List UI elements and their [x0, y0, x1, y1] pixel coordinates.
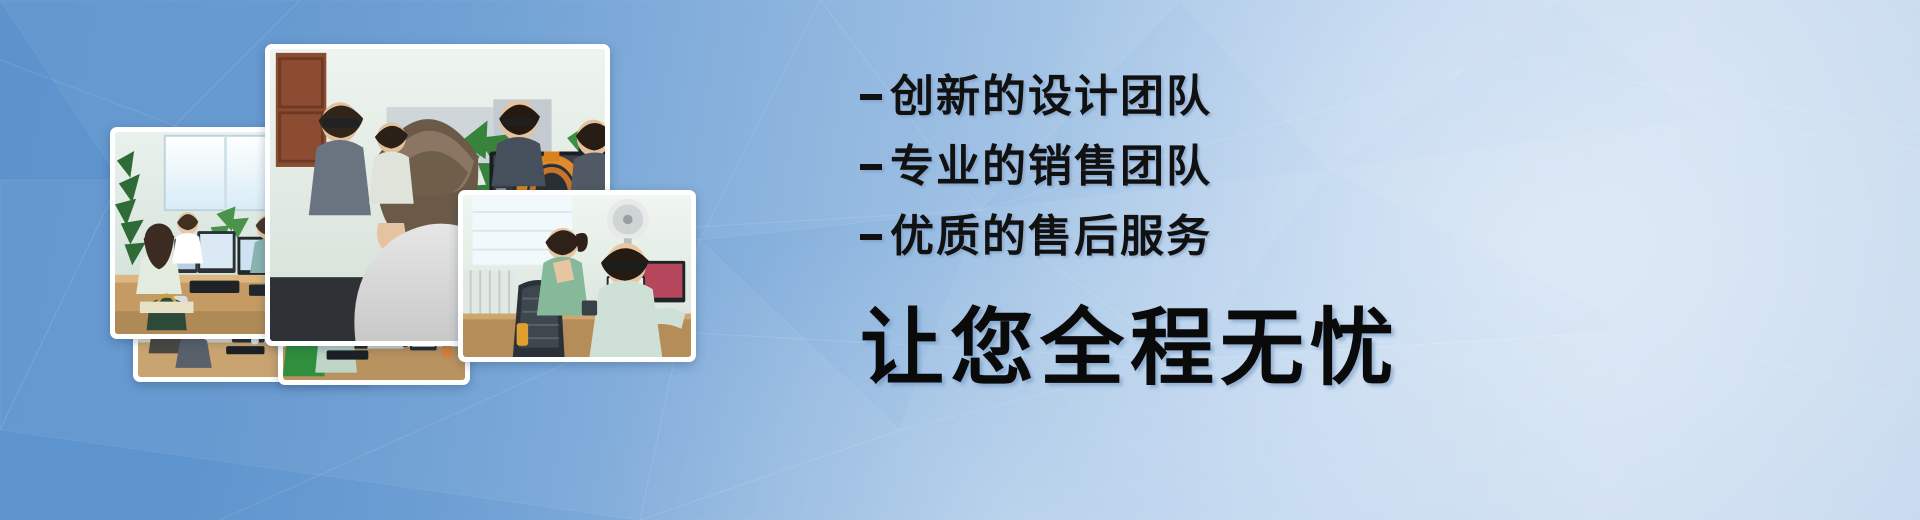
feature-bullet-item: 创新的设计团队 [860, 62, 1560, 132]
bullet-dash-icon [860, 94, 882, 100]
feature-bullet-list: 创新的设计团队 专业的销售团队 优质的售后服务 [860, 62, 1560, 272]
feature-bullet-item: 优质的售后服务 [860, 202, 1560, 272]
collage-photo-engineers-dual-monitors [458, 190, 696, 362]
photo-collage [0, 0, 760, 520]
feature-bullet-label: 专业的销售团队 [890, 132, 1212, 202]
promo-banner: 创新的设计团队 专业的销售团队 优质的售后服务 让您全程无忧 [0, 0, 1920, 520]
feature-bullet-label: 创新的设计团队 [890, 62, 1212, 132]
banner-headline: 让您全程无忧 [860, 300, 1560, 396]
bullet-dash-icon [860, 234, 882, 240]
feature-bullet-item: 专业的销售团队 [860, 132, 1560, 202]
banner-text-block: 创新的设计团队 专业的销售团队 优质的售后服务 让您全程无忧 [860, 62, 1560, 396]
feature-bullet-label: 优质的售后服务 [890, 202, 1212, 272]
bullet-dash-icon [860, 164, 882, 170]
